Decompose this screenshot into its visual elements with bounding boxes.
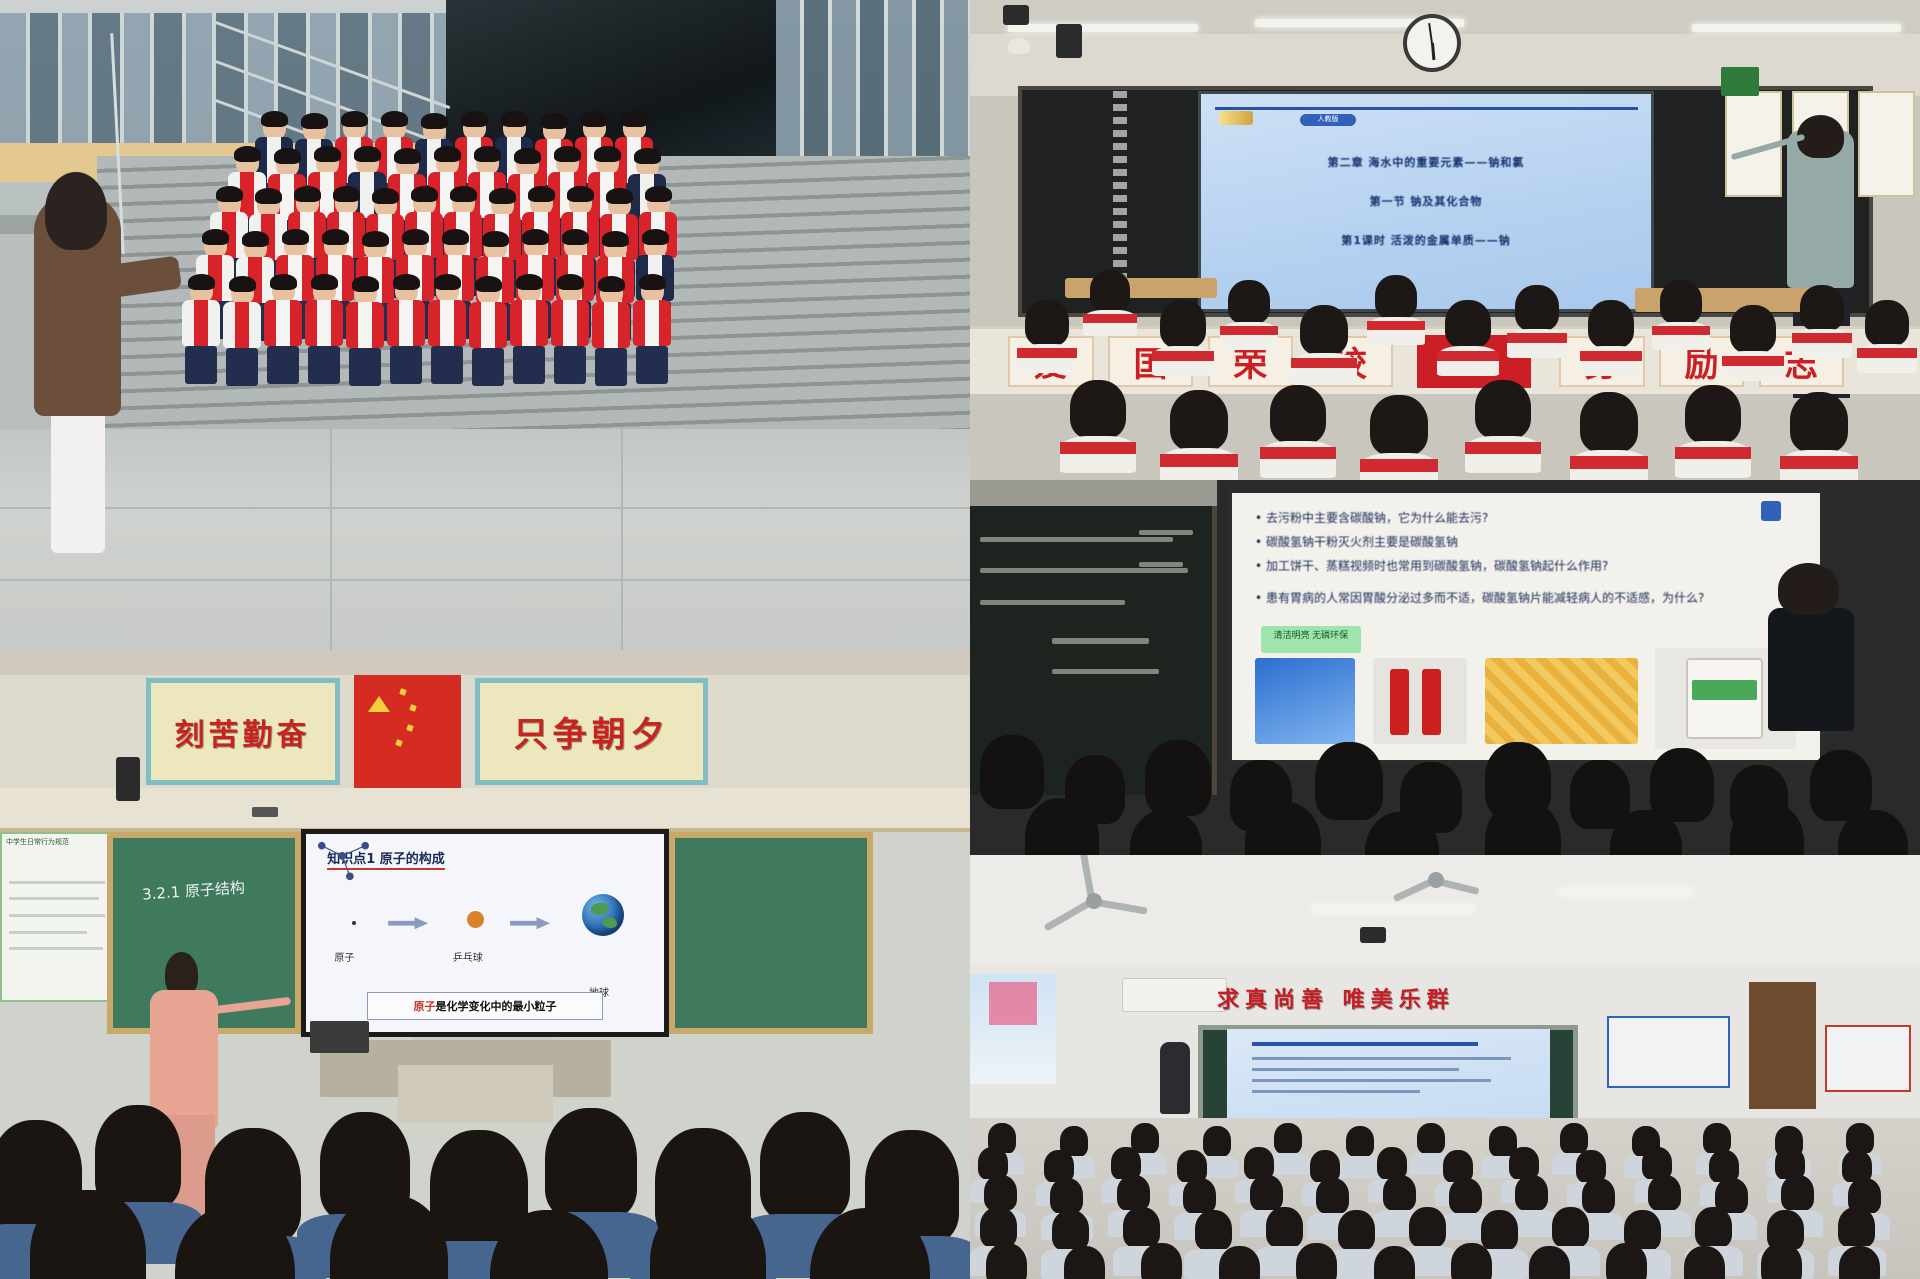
slide-bullet-1: • 去污粉中主要含碳酸钠，它为什么能去污? xyxy=(1255,509,1488,526)
slide-corner-icon xyxy=(1761,501,1781,521)
conclusion-highlight: 原子 xyxy=(413,998,435,1014)
label-atom: 原子 xyxy=(334,949,354,964)
student-back-view xyxy=(1375,275,1417,319)
seated-student xyxy=(984,1175,1017,1211)
cleaning-powder-image xyxy=(1255,658,1355,744)
ping-pong-ball-icon xyxy=(467,911,484,928)
audience-head-silhouette xyxy=(1315,742,1383,820)
seated-student xyxy=(1050,1178,1083,1214)
student-figure xyxy=(510,278,548,384)
atom-dot-icon xyxy=(352,921,356,925)
audience-head-silhouette xyxy=(980,735,1044,809)
seated-student xyxy=(1296,1243,1337,1279)
air-conditioner xyxy=(1122,978,1227,1012)
student-figure xyxy=(182,278,220,384)
seated-student xyxy=(1374,1246,1415,1279)
student-back-view xyxy=(1228,280,1270,324)
slide-line-2: 第一节 钠及其化合物 xyxy=(1201,193,1651,209)
student-figure xyxy=(428,278,466,384)
ceiling-light xyxy=(1312,906,1474,912)
chalkboard-right xyxy=(669,832,873,1033)
seated-student xyxy=(1219,1246,1260,1279)
student-back-view xyxy=(1475,380,1531,439)
seated-student xyxy=(1123,1207,1160,1248)
slide-bullet-2: • 碳酸氢钠干粉灭火剂主要是碳酸氢钠 xyxy=(1255,533,1458,550)
projection-screen: • 去污粉中主要含碳酸钠，它为什么能去污? • 碳酸氢钠干粉灭火剂主要是碳酸氢钠… xyxy=(1227,488,1826,766)
ceiling-light xyxy=(1008,24,1198,32)
student-figure xyxy=(592,280,630,386)
seated-student xyxy=(1838,1207,1875,1248)
molecule-decoration-icon xyxy=(313,838,392,881)
green-wall-icon xyxy=(1721,67,1759,96)
seated-student xyxy=(1515,1175,1548,1211)
audience-head-silhouette xyxy=(1130,810,1202,855)
seated-student xyxy=(1141,1243,1182,1279)
student-figure xyxy=(223,280,261,386)
panel-atom-structure: 刻苦勤奋 只争朝夕 中学生日常行为规范 xyxy=(0,650,970,1279)
wall-notice-board xyxy=(1858,91,1915,197)
label-pingpong: 乒乓球 xyxy=(453,949,483,964)
seated-student xyxy=(1417,1123,1445,1154)
teacher-hair xyxy=(45,172,107,250)
classroom-desk xyxy=(1065,278,1217,297)
seated-student xyxy=(1338,1210,1375,1251)
seated-student xyxy=(1552,1207,1589,1248)
student-back-view xyxy=(1515,285,1559,331)
ceiling-light xyxy=(1559,889,1692,895)
seated-student xyxy=(1695,1207,1732,1248)
building-window-row-right xyxy=(776,0,970,169)
student-back-view xyxy=(1685,385,1741,444)
seated-student xyxy=(1346,1126,1374,1157)
student-back-view xyxy=(1580,392,1638,453)
wall-trim xyxy=(0,650,970,675)
slogan-plaque-right: 只争朝夕 xyxy=(475,678,708,785)
panel-group-photo xyxy=(0,0,970,650)
student-back-view xyxy=(1588,300,1634,348)
slogan-plaque-left: 刻苦勤奋 xyxy=(146,678,340,785)
student-back-view xyxy=(1300,305,1348,355)
student-back-view xyxy=(1800,285,1844,331)
pavement-seam xyxy=(0,579,970,581)
slide-divider xyxy=(1215,107,1638,110)
conclusion-rest: 是化学变化中的最小粒子 xyxy=(435,998,556,1014)
pavement-seam xyxy=(621,429,623,650)
class-notice-board-right xyxy=(1825,1025,1911,1093)
audience-head-silhouette xyxy=(1145,740,1211,816)
arrow-right-icon xyxy=(388,917,428,929)
seated-student xyxy=(1449,1178,1482,1214)
class-notice-board xyxy=(1607,1016,1731,1088)
slide-line-1: 第二章 海水中的重要元素——钠和氯 xyxy=(1201,154,1651,170)
panel-chemistry-sodium: 人教版 第二章 海水中的重要元素——钠和氯 第一节 钠及其化合物 第1课时 活泼… xyxy=(970,0,1920,480)
seated-student xyxy=(1684,1246,1725,1279)
student-back-view xyxy=(1070,380,1126,439)
poster-title: 中学生日常行为规范 xyxy=(2,834,114,851)
wall-speaker xyxy=(1003,5,1029,25)
slide-bullet-2-text: 碳酸氢钠干粉灭火剂主要是碳酸氢钠 xyxy=(1266,535,1458,549)
student-back-view xyxy=(1170,390,1228,451)
presenter-body xyxy=(1768,608,1854,732)
slide-line-3: 第1课时 活泼的金属单质——钠 xyxy=(1201,232,1651,248)
teacher-desk xyxy=(398,1065,553,1122)
seated-student xyxy=(1316,1178,1349,1214)
student-figure xyxy=(469,280,507,386)
seated-student xyxy=(986,1243,1027,1279)
slide-bullet-1-text: 去污粉中主要含碳酸钠，它为什么能去污? xyxy=(1266,511,1488,525)
interactive-whiteboard: 人教版 第二章 海水中的重要元素——钠和氯 第一节 钠及其化合物 第1课时 活泼… xyxy=(1198,91,1654,312)
student-back-view xyxy=(545,1108,637,1218)
photo-collage: 人教版 第二章 海水中的重要元素——钠和氯 第一节 钠及其化合物 第1课时 活泼… xyxy=(0,0,1920,1279)
student-back-view xyxy=(1160,300,1206,348)
seated-student xyxy=(1839,1246,1880,1279)
seated-student xyxy=(1451,1243,1492,1279)
window-poster xyxy=(989,982,1037,1024)
student-back-view xyxy=(1370,395,1428,456)
slide-conclusion-box: 原子是化学变化中的最小粒子 xyxy=(367,992,604,1020)
slide-badge: 人教版 xyxy=(1300,114,1356,126)
audience-head-silhouette xyxy=(1650,748,1714,822)
seated-student xyxy=(1529,1246,1570,1279)
interactive-whiteboard: 知识点1 原子的构成 xyxy=(301,829,670,1037)
seated-student xyxy=(1117,1175,1150,1211)
slide-green-label: 清洁明亮 无磷环保 xyxy=(1261,626,1361,653)
earth-globe-icon xyxy=(582,894,624,936)
student-back-view xyxy=(1660,280,1702,324)
student-figure xyxy=(387,278,425,384)
seated-student xyxy=(1383,1175,1416,1211)
panel-chemistry-carbonate: • 去污粉中主要含碳酸钠，它为什么能去污? • 碳酸氢钠干粉灭火剂主要是碳酸氢钠… xyxy=(970,480,1920,855)
seated-student xyxy=(1606,1243,1647,1279)
fire-extinguisher-image xyxy=(1373,658,1467,744)
student-figure xyxy=(551,278,589,384)
seated-student xyxy=(980,1207,1017,1248)
slogan-left-text: 刻苦勤奋 xyxy=(175,710,311,754)
biscuit-image xyxy=(1485,658,1638,744)
student-back-view xyxy=(1730,305,1776,353)
pavement-seam xyxy=(330,429,332,650)
seated-student xyxy=(1560,1123,1588,1154)
seated-student xyxy=(1409,1207,1446,1248)
seated-student xyxy=(1266,1207,1303,1248)
wall-ledge xyxy=(0,788,970,832)
student-back-view xyxy=(760,1112,850,1220)
slide-bullet-3: • 加工饼干、蒸糕视频时也常用到碳酸氢钠，碳酸氢钠起什么作用? xyxy=(1255,557,1608,574)
wall-speaker xyxy=(1056,24,1082,58)
slide-bullet-4-text: 患有胃病的人常因胃酸分泌过多而不适，碳酸氢钠片能减轻病人的不适感，为什么? xyxy=(1266,591,1704,605)
seated-student xyxy=(1064,1246,1105,1279)
seated-student xyxy=(1203,1126,1231,1157)
security-camera-icon xyxy=(1008,38,1030,54)
seated-student xyxy=(1761,1243,1802,1279)
seated-student xyxy=(1250,1175,1283,1211)
student-figure xyxy=(633,278,671,384)
student-figure xyxy=(264,278,302,384)
student-back-view xyxy=(1865,300,1909,346)
seated-student xyxy=(1195,1210,1232,1251)
seated-student xyxy=(1582,1178,1615,1214)
equipment-box xyxy=(310,1021,368,1052)
slide-logo-icon xyxy=(1219,111,1253,125)
presenter-hair xyxy=(1778,563,1840,616)
student-back-view xyxy=(1790,392,1848,453)
wall-slogan-text: 求真尚善 唯美乐群 xyxy=(1217,982,1455,1014)
seated-student xyxy=(1481,1210,1518,1251)
classroom-door xyxy=(1749,982,1816,1109)
seated-student xyxy=(1648,1175,1681,1211)
seated-student xyxy=(1183,1178,1216,1214)
student-back-view xyxy=(1090,270,1130,312)
student-figure xyxy=(346,280,384,386)
paved-ground xyxy=(0,429,970,650)
seated-student xyxy=(1274,1123,1302,1154)
seated-student xyxy=(1846,1123,1874,1154)
chalkboard-note: 3.2.1 原子结构 xyxy=(141,876,245,904)
seated-student xyxy=(1052,1210,1089,1251)
student-back-view xyxy=(1445,300,1491,348)
arrow-right-icon xyxy=(510,917,550,929)
chalkboard-top-frame xyxy=(970,480,1217,506)
behaviour-rules-poster: 中学生日常行为规范 xyxy=(0,832,116,1002)
ceiling-light xyxy=(1692,24,1901,32)
projection-screen xyxy=(1227,1029,1550,1122)
seated-student xyxy=(1781,1175,1814,1211)
student-back-view xyxy=(1270,385,1326,444)
slide-bullet-3-text: 加工饼干、蒸糕视频时也常用到碳酸氢钠，碳酸氢钠起什么作用? xyxy=(1266,559,1608,573)
teacher-figure xyxy=(1160,1042,1190,1114)
china-flag-icon xyxy=(354,675,461,788)
student-back-view xyxy=(1025,300,1069,346)
wall-speaker xyxy=(1360,927,1386,943)
projector-mount xyxy=(252,807,278,817)
panel-large-classroom: 求真尚善 唯美乐群 xyxy=(970,855,1920,1279)
pavement-seam xyxy=(0,507,970,509)
slide-bullet-4: • 患有胃病的人常因胃酸分泌过多而不适，碳酸氢钠片能减轻病人的不适感，为什么? xyxy=(1255,589,1704,606)
wall-speaker xyxy=(116,757,140,801)
slogan-right-text: 只争朝夕 xyxy=(514,707,670,756)
student-figure xyxy=(305,278,343,384)
